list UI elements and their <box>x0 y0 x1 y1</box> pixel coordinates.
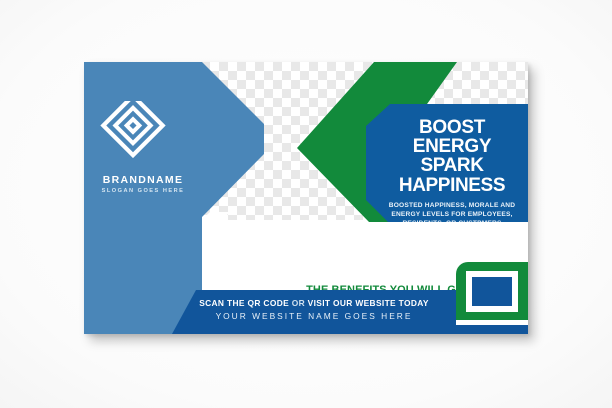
mockup-stage: BRANDNAME SLOGAN GOES HERE BOOST ENERGY … <box>0 0 612 408</box>
headline-block: BOOST ENERGY SPARK HAPPINESS BOOSTED HAP… <box>366 104 528 222</box>
headline-subtext-line-2: ENERGY LEVELS FOR EMPLOYEES, <box>386 210 518 219</box>
cta-strong-b: VISIT OUR WEBSITE TODAY <box>308 298 429 308</box>
brand-name: BRANDNAME <box>84 174 202 186</box>
headline-subtext-line-1: BOOSTED HAPPINESS, MORALE AND <box>386 201 518 210</box>
cta-line-1: SCAN THE QR CODE OR VISIT OUR WEBSITE TO… <box>164 298 464 308</box>
cta-or: OR <box>289 298 308 308</box>
qr-code-block <box>456 262 528 320</box>
qr-white-strip <box>456 320 528 325</box>
headline-subtext-line-3: RESIDENTS, OR CUSTPMERS <box>386 219 518 228</box>
headline-subtext: BOOSTED HAPPINESS, MORALE AND ENERGY LEV… <box>386 201 518 228</box>
headline-line-2: SPARK HAPPINESS <box>386 156 518 196</box>
cta-strong-a: SCAN THE QR CODE <box>199 298 289 308</box>
cta-line-2: YOUR WEBSITE NAME GOES HERE <box>164 311 464 321</box>
headline-line-1: BOOST ENERGY <box>386 118 518 156</box>
qr-code-placeholder <box>472 277 512 306</box>
concentric-diamond-logo-icon <box>100 101 166 167</box>
brand-slogan: SLOGAN GOES HERE <box>84 188 202 194</box>
banner-card: BRANDNAME SLOGAN GOES HERE BOOST ENERGY … <box>84 62 528 334</box>
qr-code-frame <box>466 271 518 312</box>
